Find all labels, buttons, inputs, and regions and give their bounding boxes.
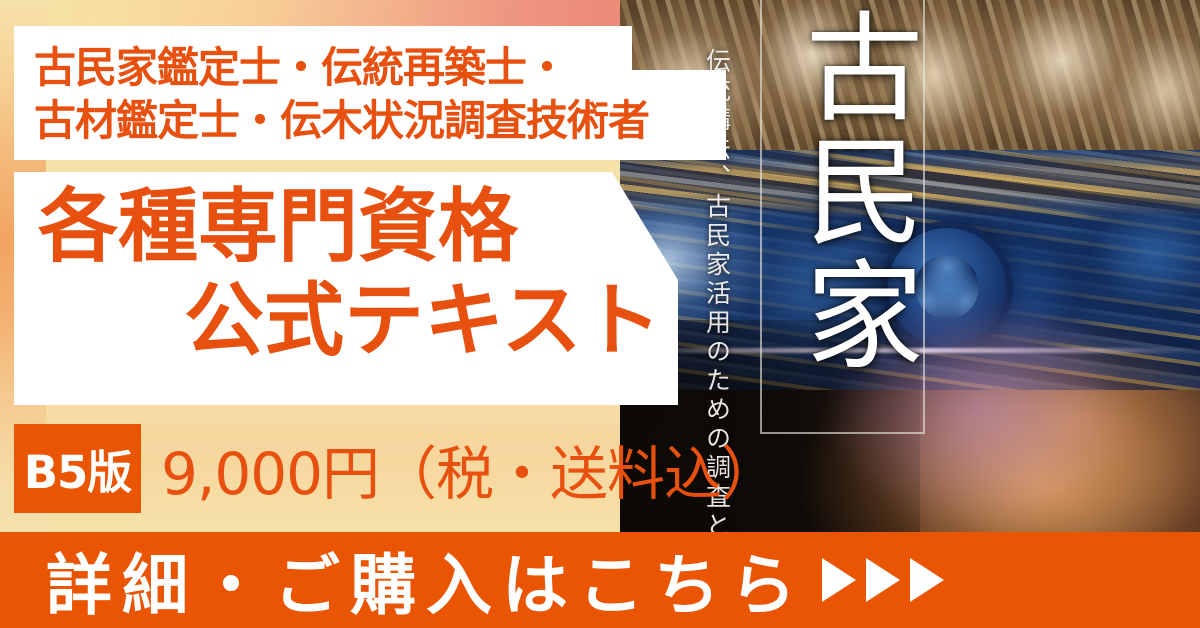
- price-row: B5版 9,000円（税・送料込）: [14, 424, 778, 513]
- cover-title: 古民家: [766, 6, 918, 378]
- headline-line-2: 公式テキスト: [184, 276, 662, 366]
- cta-label: 詳細・ご購入はこちら: [46, 532, 806, 628]
- headline-line-1: 各種専門資格: [38, 182, 518, 272]
- price-amount: 9,000円（税・送料込）: [161, 427, 778, 511]
- headline-panel: 各種専門資格 公式テキスト: [14, 172, 678, 405]
- triangle-right-icon: [910, 558, 944, 602]
- cta-bar[interactable]: 詳細・ご購入はこちら: [0, 532, 1200, 628]
- triangle-right-icon: [822, 558, 856, 602]
- cta-arrow-group: [822, 558, 944, 602]
- credentials-text: 古民家鑑定士・伝統再築士・ 古材鑑定士・伝木状況調査技術者: [34, 42, 649, 147]
- triangle-right-icon: [866, 558, 900, 602]
- size-badge: B5版: [14, 424, 141, 513]
- credentials-panel: 古民家鑑定士・伝統再築士・ 古材鑑定士・伝木状況調査技術者: [14, 26, 726, 160]
- promo-banner: 伝統構法、古民家活用のための調査と再生の 古民家 古民家鑑定士・伝統再築士・ 古…: [0, 0, 1200, 628]
